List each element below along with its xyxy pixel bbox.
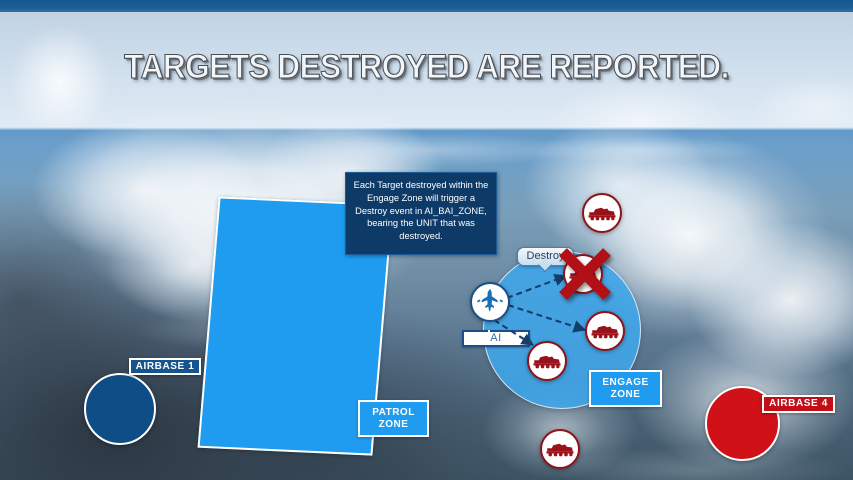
armored-vehicle-icon	[590, 322, 620, 340]
armored-vehicle-icon	[532, 352, 562, 370]
target-top-outside[interactable]	[582, 193, 622, 233]
ai-aircraft-marker[interactable]	[470, 282, 510, 322]
armored-vehicle-icon	[568, 265, 598, 283]
airbase-4-label[interactable]: AIRBASE 4	[762, 395, 835, 413]
target-bottom-outside[interactable]	[540, 429, 580, 469]
fighter-jet-icon	[476, 288, 504, 316]
info-callout-panel: Each Target destroyed within the Engage …	[345, 172, 497, 255]
ai-label[interactable]: AI	[462, 330, 530, 347]
page-title: TARGETS DESTROYED ARE REPORTED.	[30, 48, 823, 87]
presentation-slide: TARGETS DESTROYED ARE REPORTED. AIRBASE …	[0, 0, 853, 480]
top-accent-strip	[0, 0, 853, 12]
airbase-1-marker[interactable]	[84, 373, 156, 445]
patrol-zone-label[interactable]: PATROL ZONE	[358, 400, 429, 437]
target-left-inside[interactable]	[527, 341, 567, 381]
armored-vehicle-icon	[587, 204, 617, 222]
header-underline	[0, 127, 853, 130]
target-destroyed[interactable]	[563, 254, 603, 294]
ai-label-stem	[488, 330, 490, 342]
target-right-inside[interactable]	[585, 311, 625, 351]
engage-zone-label[interactable]: ENGAGE ZONE	[589, 370, 662, 407]
armored-vehicle-icon	[545, 440, 575, 458]
airbase-1-label[interactable]: AIRBASE 1	[129, 358, 201, 375]
